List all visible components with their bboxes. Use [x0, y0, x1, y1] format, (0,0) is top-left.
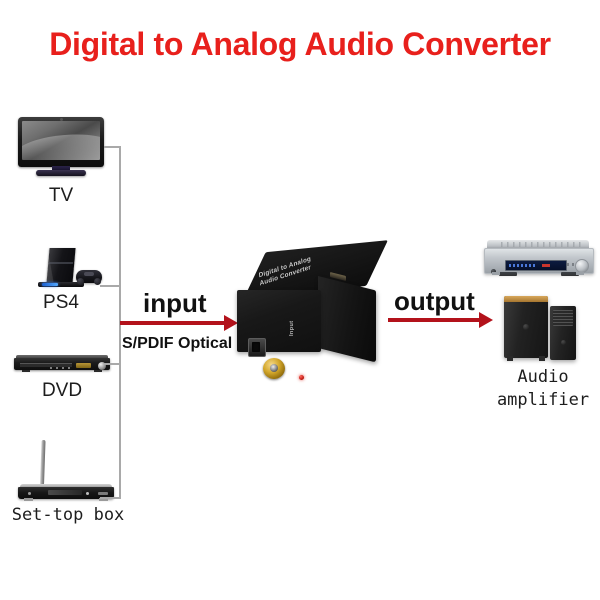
set-top-box-badge — [98, 492, 108, 495]
set-top-box-led-power — [28, 492, 31, 495]
dvd-button-row — [50, 367, 72, 369]
dvd-front-panel — [14, 358, 110, 370]
dvd-feet — [22, 370, 102, 372]
ps4-controller-grip-left — [77, 278, 84, 285]
ps4-controller-grip-right — [94, 278, 101, 285]
bus-stub-ps4 — [100, 285, 121, 287]
converter-front-face: Input — [237, 290, 321, 352]
ps4-vent-slit — [49, 262, 73, 264]
output-arrow-head — [479, 312, 493, 328]
game-console-icon — [30, 248, 106, 292]
set-top-box-antenna — [40, 440, 46, 485]
receiver-display — [505, 260, 567, 271]
destination-label-line1: Audio — [486, 367, 600, 387]
speaker-subwoofer-wood-top — [504, 296, 548, 302]
set-top-box-led-signal — [86, 492, 89, 495]
set-top-box-feet — [24, 498, 108, 501]
receiver-front-panel — [484, 248, 594, 274]
input-label: input — [143, 288, 207, 319]
converter-power-led — [299, 375, 304, 380]
diagram-canvas: Digital to Analog Audio Converter TV PS4 — [0, 0, 600, 600]
device-label-tv: TV — [18, 185, 104, 207]
tv-bezel — [18, 117, 104, 167]
tv-stand-base — [36, 170, 86, 176]
speaker-pair-icon — [504, 292, 588, 364]
ps4-controller — [76, 270, 102, 283]
bus-stub-tv — [104, 146, 121, 148]
input-arrow-line — [120, 321, 225, 325]
output-arrow-line — [388, 318, 480, 322]
receiver-feet — [492, 272, 584, 275]
receiver-volume-knob — [575, 259, 589, 273]
receiver-vents — [501, 242, 581, 247]
flat-screen-tv-icon — [18, 117, 104, 179]
tv-screen-glare — [22, 131, 100, 160]
ps4-body — [46, 248, 75, 284]
bus-stub-dvd — [104, 363, 121, 365]
ps4-led-strip — [42, 283, 58, 286]
device-label-dvd: DVD — [14, 380, 110, 402]
coaxial-rca-port — [263, 358, 285, 379]
tv-screen — [22, 121, 100, 160]
speaker-subwoofer — [504, 296, 548, 358]
digital-to-analog-converter-device: Digital to Analog Audio Converter Input — [232, 252, 382, 372]
bus-stub-set-top-box — [100, 497, 121, 499]
converter-port-label: Input — [289, 321, 295, 336]
speaker-tower-driver — [561, 340, 566, 345]
device-label-ps4: PS4 — [18, 292, 104, 314]
page-title: Digital to Analog Audio Converter — [0, 26, 600, 63]
converter-side-face — [318, 276, 376, 362]
speaker-tower — [550, 306, 576, 360]
input-sublabel: S/PDIF Optical — [122, 335, 232, 353]
optical-toslink-port — [248, 338, 266, 357]
speaker-subwoofer-feet — [507, 356, 545, 361]
destination-label-line2: amplifier — [486, 390, 600, 410]
set-top-box-icon — [14, 440, 118, 502]
output-label: output — [394, 286, 475, 317]
speaker-subwoofer-driver — [523, 324, 529, 330]
dvd-player-icon — [14, 355, 110, 375]
dvd-display — [76, 363, 91, 368]
speaker-tower-grill — [553, 310, 573, 326]
device-label-set-top-box: Set-top box — [0, 505, 136, 525]
av-receiver-icon — [484, 240, 592, 280]
